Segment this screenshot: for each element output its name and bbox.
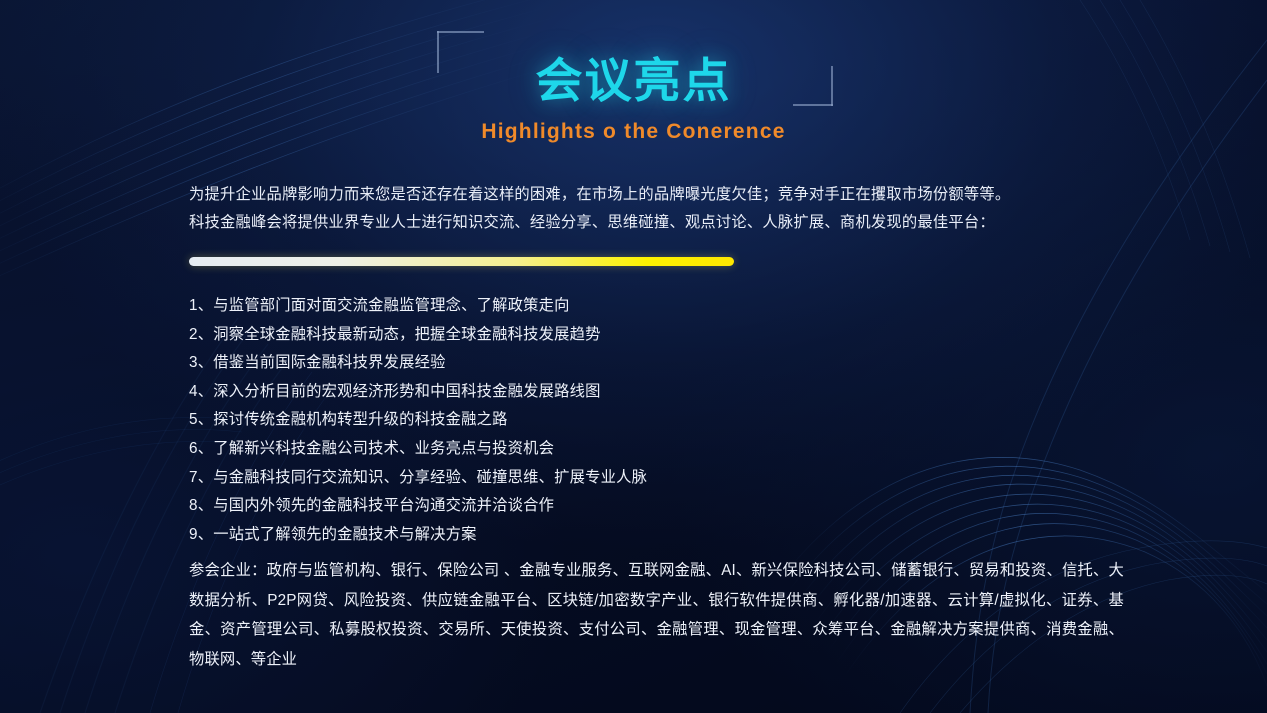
- list-item: 6、了解新兴科技金融公司技术、业务亮点与投资机会: [189, 435, 1129, 463]
- list-item: 8、与国内外领先的金融科技平台沟通交流并洽谈合作: [189, 492, 1129, 520]
- list-item: 4、深入分析目前的宏观经济形势和中国科技金融发展路线图: [189, 378, 1129, 406]
- intro-line-2: 科技金融峰会将提供业界专业人士进行知识交流、经验分享、思维碰撞、观点讨论、人脉扩…: [189, 209, 1129, 237]
- list-item: 5、探讨传统金融机构转型升级的科技金融之路: [189, 406, 1129, 434]
- highlights-list: 1、与监管部门面对面交流金融监管理念、了解政策走向 2、洞察全球金融科技最新动态…: [189, 292, 1129, 549]
- list-item: 3、借鉴当前国际金融科技界发展经验: [189, 349, 1129, 377]
- list-item: 9、一站式了解领先的金融技术与解决方案: [189, 521, 1129, 549]
- list-item: 1、与监管部门面对面交流金融监管理念、了解政策走向: [189, 292, 1129, 320]
- list-item: 2、洞察全球金融科技最新动态，把握全球金融科技发展趋势: [189, 321, 1129, 349]
- participating-companies-paragraph: 参会企业：政府与监管机构、银行、保险公司 、金融专业服务、互联网金融、AI、新兴…: [189, 556, 1124, 675]
- page-title: 会议亮点: [0, 42, 1267, 111]
- intro-paragraph: 为提升企业品牌影响力而来您是否还存在着这样的困难，在市场上的品牌曝光度欠佳；竞争…: [189, 181, 1129, 237]
- slide-header: 会议亮点 Highlights o the Conerence: [0, 0, 1267, 170]
- page-subtitle: Highlights o the Conerence: [0, 120, 1267, 144]
- list-item: 7、与金融科技同行交流知识、分享经验、碰撞思维、扩展专业人脉: [189, 464, 1129, 492]
- gradient-divider: [189, 257, 734, 266]
- slide-body: 为提升企业品牌影响力而来您是否还存在着这样的困难，在市场上的品牌曝光度欠佳；竞争…: [189, 181, 1129, 675]
- bracket-horizontal-line: [437, 31, 484, 33]
- presentation-slide: 会议亮点 Highlights o the Conerence 为提升企业品牌影…: [0, 0, 1267, 713]
- intro-line-1: 为提升企业品牌影响力而来您是否还存在着这样的困难，在市场上的品牌曝光度欠佳；竞争…: [189, 181, 1129, 209]
